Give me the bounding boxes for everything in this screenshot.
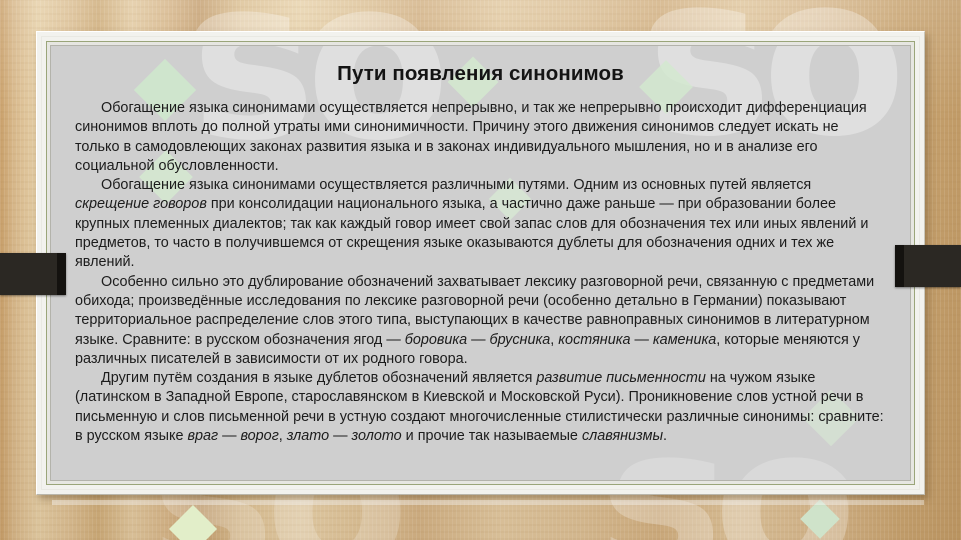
slide-body-text: Обогащение языка синонимами осуществляет…: [75, 99, 886, 446]
slide-title: Пути появления синонимов: [75, 62, 886, 86]
presentation-slide: so so so so so so so Пут: [0, 0, 961, 540]
paragraph-4: Другим путём создания в языке дублетов о…: [75, 369, 886, 446]
slide-canvas: so so so Пути появления синонимов Обогащ…: [50, 45, 911, 481]
paragraph-2: Обогащение языка синонимами осуществляет…: [75, 176, 886, 272]
paragraph-3: Особенно сильно это дублирование обознач…: [75, 273, 886, 369]
paragraph-1: Обогащение языка синонимами осуществляет…: [75, 99, 886, 176]
slide-content: Пути появления синонимов Обогащение язык…: [51, 46, 910, 456]
frame-green-border: so so so Пути появления синонимов Обогащ…: [46, 41, 915, 485]
slide-frame: so so so Пути появления синонимов Обогащ…: [36, 31, 925, 495]
frame-shadow-strip: [52, 500, 924, 505]
